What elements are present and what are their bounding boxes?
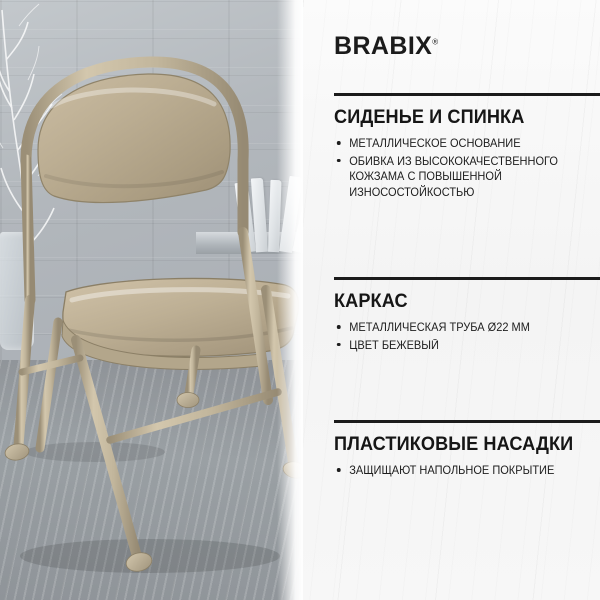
spec-list: МЕТАЛЛИЧЕСКАЯ ТРУБА Ø22 ММ ЦВЕТ БЕЖЕВЫЙ xyxy=(334,320,600,353)
list-item: ОБИВКА ИЗ ВЫСОКОКАЧЕСТВЕННОГО КОЖЗАМА С … xyxy=(334,154,587,200)
section-title: СИДЕНЬЕ И СПИНКА xyxy=(334,107,581,127)
section-divider xyxy=(334,277,600,280)
folding-chair xyxy=(0,0,303,600)
registered-trademark-icon: ® xyxy=(432,38,438,47)
list-item: МЕТАЛЛИЧЕСКАЯ ТРУБА Ø22 ММ xyxy=(334,320,587,335)
section-divider xyxy=(334,93,600,96)
list-item: ЗАЩИЩАЮТ НАПОЛЬНОЕ ПОКРЫТИЕ xyxy=(334,463,587,478)
section-divider xyxy=(334,420,600,423)
list-item: ЦВЕТ БЕЖЕВЫЙ xyxy=(334,338,587,353)
product-photo xyxy=(0,0,303,600)
brand-logo: BRABIX® xyxy=(334,34,438,59)
spec-list: ЗАЩИЩАЮТ НАПОЛЬНОЕ ПОКРЫТИЕ xyxy=(334,463,600,478)
brand-name: BRABIX xyxy=(334,32,432,60)
spec-section-seat: СИДЕНЬЕ И СПИНКА МЕТАЛЛИЧЕСКОЕ ОСНОВАНИЕ… xyxy=(334,93,600,202)
section-title: ПЛАСТИКОВЫЕ НАСАДКИ xyxy=(334,434,581,454)
product-infographic: BRABIX® СИДЕНЬЕ И СПИНКА МЕТАЛЛИЧЕСКОЕ О… xyxy=(0,0,600,600)
list-item: МЕТАЛЛИЧЕСКОЕ ОСНОВАНИЕ xyxy=(334,136,587,151)
spec-section-frame: КАРКАС МЕТАЛЛИЧЕСКАЯ ТРУБА Ø22 ММ ЦВЕТ Б… xyxy=(334,277,600,355)
section-title: КАРКАС xyxy=(334,291,581,311)
photo-edge-fade xyxy=(277,0,303,600)
specs-panel: BRABIX® СИДЕНЬЕ И СПИНКА МЕТАЛЛИЧЕСКОЕ О… xyxy=(303,0,600,600)
spec-section-caps: ПЛАСТИКОВЫЕ НАСАДКИ ЗАЩИЩАЮТ НАПОЛЬНОЕ П… xyxy=(334,420,600,481)
spec-list: МЕТАЛЛИЧЕСКОЕ ОСНОВАНИЕ ОБИВКА ИЗ ВЫСОКО… xyxy=(334,136,600,200)
